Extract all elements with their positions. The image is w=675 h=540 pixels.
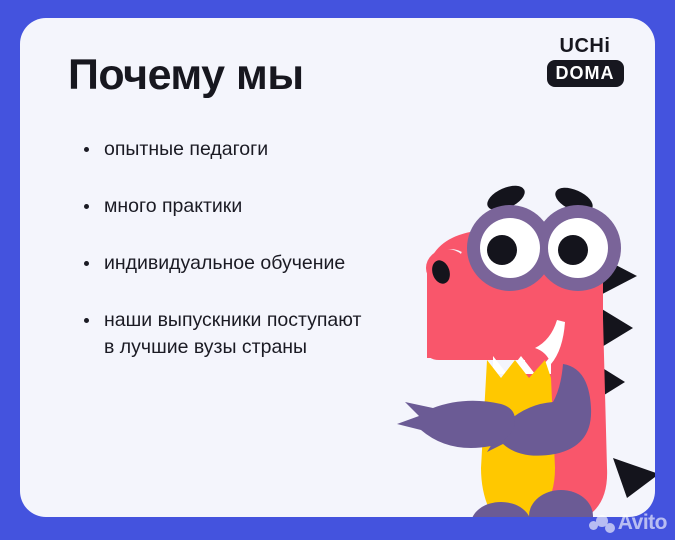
brand-logo: UCHi DOMA: [543, 34, 627, 87]
content-card: Почему мы опытные педагоги много практик…: [20, 18, 655, 517]
list-item: наши выпускники поступают в лучшие вузы …: [80, 307, 370, 361]
page-title: Почему мы: [68, 52, 304, 99]
list-item-label: опытные педагоги: [104, 138, 268, 160]
list-item: много практики: [80, 193, 370, 220]
bullet-dot-icon: [84, 204, 89, 209]
ad-card-screen: Почему мы опытные педагоги много практик…: [0, 0, 675, 540]
list-item-label: индивидуальное обучение: [104, 252, 345, 274]
avito-watermark: Avito: [589, 512, 667, 534]
list-item-label: много практики: [104, 195, 242, 217]
list-item: опытные педагоги: [80, 136, 370, 163]
bullet-dot-icon: [84, 261, 89, 266]
list-item-label: наши выпускники поступают в лучшие вузы …: [104, 309, 361, 358]
brand-logo-top-text: UCHi: [543, 34, 627, 58]
dinosaur-mascot-illustration: [375, 168, 655, 517]
brand-logo-pill-text: DOMA: [547, 60, 624, 87]
avito-dots-icon: [589, 512, 615, 534]
bullet-dot-icon: [84, 147, 89, 152]
list-item: индивидуальное обучение: [80, 250, 370, 277]
avito-watermark-label: Avito: [618, 512, 667, 534]
benefits-list: опытные педагоги много практики индивиду…: [80, 136, 370, 361]
bullet-dot-icon: [84, 318, 89, 323]
